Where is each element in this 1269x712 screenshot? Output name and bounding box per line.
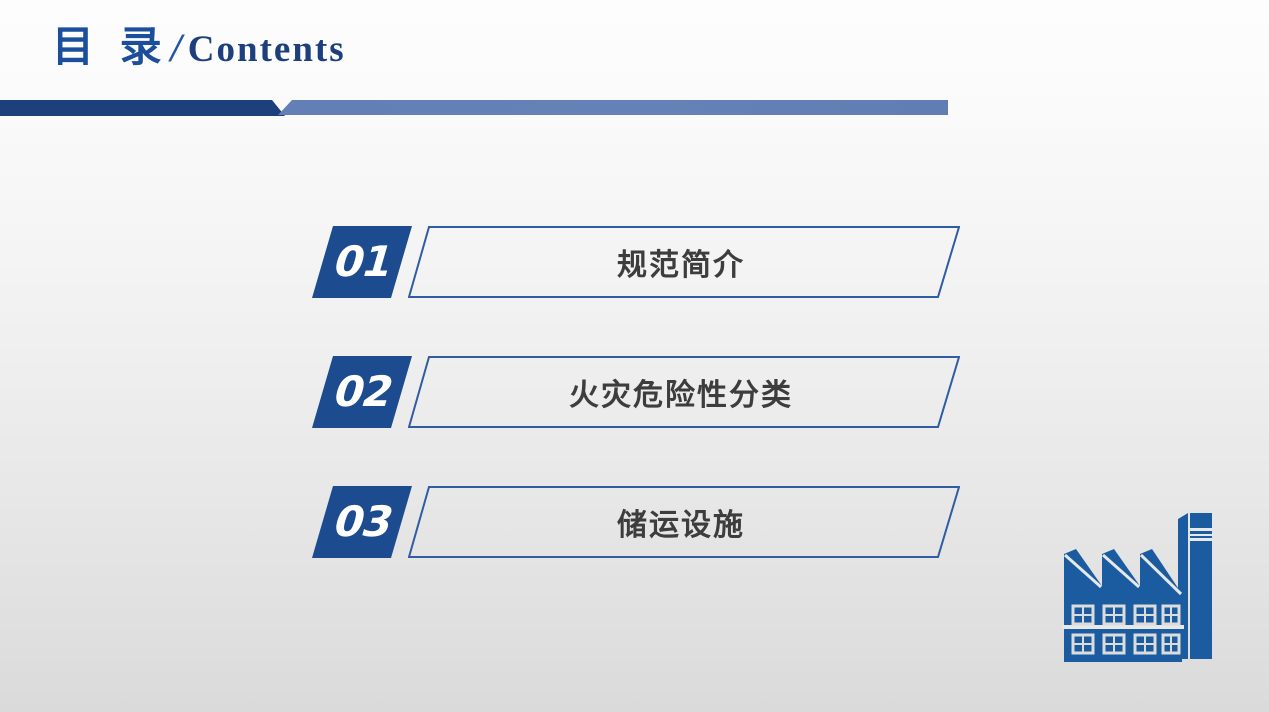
contents-item-03-number: 03 (329, 501, 397, 543)
contents-item-02-badge: 02 (312, 356, 412, 428)
contents-item-02-panel[interactable]: 火灾危险性分类 (408, 356, 960, 428)
factory-icon (1042, 494, 1232, 684)
contents-item-03[interactable]: 03 储运设施 (300, 486, 960, 566)
contents-item-03-panel[interactable]: 储运设施 (408, 486, 960, 558)
contents-item-02-number: 02 (329, 371, 397, 413)
contents-item-01-label: 规范简介 (408, 226, 960, 298)
contents-item-01-panel[interactable]: 规范简介 (408, 226, 960, 298)
contents-item-03-label: 储运设施 (408, 486, 960, 558)
contents-item-01[interactable]: 01 规范简介 (300, 226, 960, 306)
contents-item-03-badge: 03 (312, 486, 412, 558)
slide-root: 目 录 / Contents 01 规范简介 02 (0, 0, 1269, 712)
contents-item-02[interactable]: 02 火灾危险性分类 (300, 356, 960, 436)
contents-item-01-number: 01 (329, 241, 397, 283)
contents-item-01-badge: 01 (312, 226, 412, 298)
contents-item-02-label: 火灾危险性分类 (408, 356, 960, 428)
